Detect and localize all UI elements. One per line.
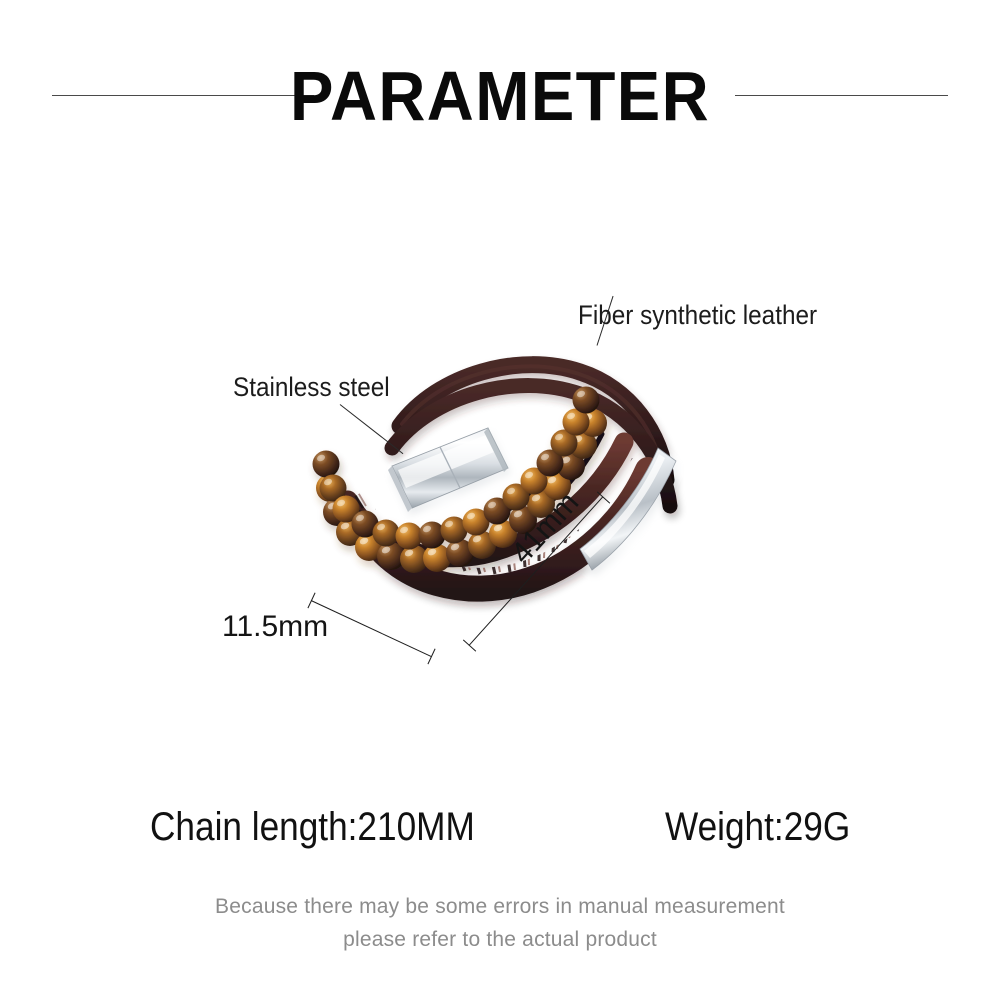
dimension-label-width: 11.5mm	[222, 610, 328, 644]
annotation-fiber-synthetic-leather: Fiber synthetic leather	[578, 300, 817, 331]
annotation-stainless-steel: Stainless steel	[233, 372, 390, 403]
spec-chain-length: Chain length:210MM	[150, 805, 475, 850]
page-title: PARAMETER	[35, 52, 965, 140]
header: PARAMETER	[0, 52, 1000, 144]
disclaimer-line-2: please refer to the actual product	[0, 928, 1000, 952]
infographic-canvas: PARAMETER	[0, 0, 1000, 1000]
disclaimer-line-1: Because there may be some errors in manu…	[0, 895, 1000, 919]
dimension-tick-length-start	[463, 639, 477, 651]
spec-weight: Weight:29G	[665, 805, 850, 850]
steel-bar-plate	[580, 448, 676, 570]
